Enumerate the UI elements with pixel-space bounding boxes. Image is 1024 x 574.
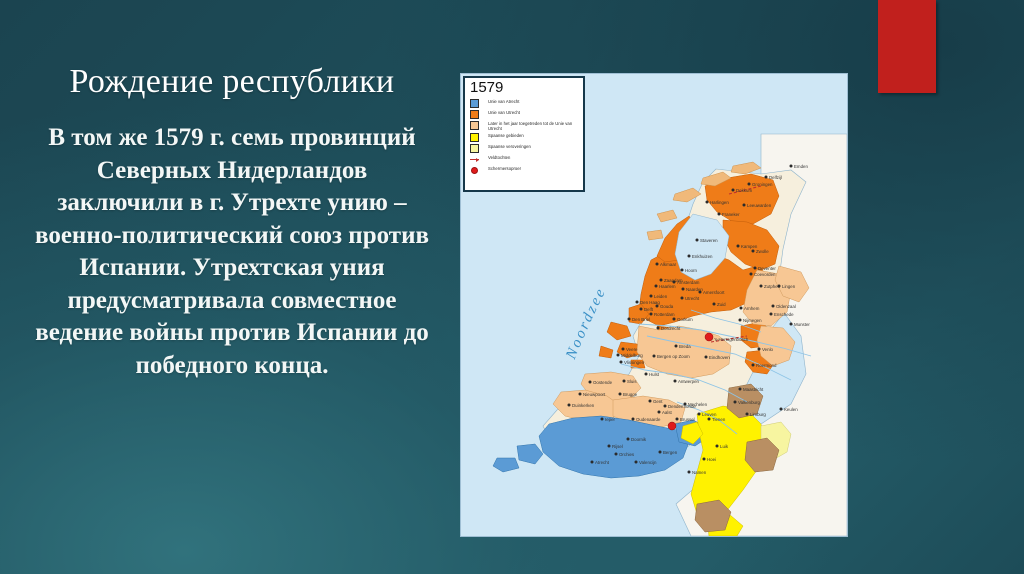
- city-label: Gorkum: [677, 317, 693, 322]
- city-marker-dot: [770, 313, 773, 316]
- city-label: Luik: [720, 444, 729, 449]
- city-marker-dot: [632, 418, 635, 421]
- legend-item: Unie van Utrecht: [469, 109, 580, 119]
- city-label: Nijmegen: [743, 318, 762, 323]
- city-label: Enschede: [774, 312, 794, 317]
- map-legend: 1579 Unie van AtrechtUnie van UtrechtLat…: [463, 76, 585, 192]
- city-label: 's-Hertogenbosch: [714, 337, 749, 342]
- legend-item: Veldtochten: [469, 154, 580, 164]
- city-label: Alkmaar: [660, 262, 677, 267]
- city-label: Oldenzaal: [776, 304, 796, 309]
- city-label: Harlingen: [710, 200, 729, 205]
- city-marker-dot: [698, 413, 701, 416]
- city-label: Duinkerken: [572, 403, 595, 408]
- city-marker-dot: [732, 189, 735, 192]
- city-marker-dot: [674, 380, 677, 383]
- city-marker-dot: [760, 285, 763, 288]
- city-marker-dot: [705, 356, 708, 359]
- city-label: Dordrecht: [661, 326, 681, 331]
- city-label: Dokkum: [736, 188, 752, 193]
- legend-item-list: Unie van AtrechtUnie van UtrechtLater in…: [469, 98, 580, 175]
- city-marker-dot: [655, 285, 658, 288]
- legend-item-label: Later in het jaar toegetreden tot de Uni…: [488, 120, 580, 131]
- city-marker-dot: [778, 285, 781, 288]
- city-label: Venlo: [762, 347, 774, 352]
- city-marker-dot: [780, 408, 783, 411]
- legend-swatch: [470, 133, 479, 142]
- city-marker-dot: [673, 318, 676, 321]
- city-marker-dot: [706, 201, 709, 204]
- city-label: Kampen: [741, 244, 758, 249]
- city-label: Haarlem: [659, 284, 676, 289]
- city-label: Doornik: [631, 437, 647, 442]
- city-marker-dot: [790, 165, 793, 168]
- city-label: Groningen: [752, 182, 773, 187]
- slide-body-text: В том же 1579 г. семь провинций Северных…: [8, 122, 456, 382]
- city-label: Rijsel: [612, 444, 623, 449]
- city-marker-dot: [684, 403, 687, 406]
- legend-item-label: Unie van Atrecht: [488, 98, 520, 104]
- city-marker-dot: [743, 204, 746, 207]
- city-marker-dot: [656, 305, 659, 308]
- city-marker-dot: [790, 323, 793, 326]
- city-marker-dot: [589, 381, 592, 384]
- city-marker-dot: [664, 405, 667, 408]
- city-label: Leiden: [654, 294, 668, 299]
- city-marker-dot: [708, 418, 711, 421]
- legend-swatch: [470, 121, 479, 130]
- city-label: Bergen: [663, 450, 678, 455]
- city-label: Ieper: [605, 417, 616, 422]
- city-label: Bergen op Zoom: [657, 354, 690, 359]
- city-marker-dot: [623, 380, 626, 383]
- city-marker-dot: [622, 348, 625, 351]
- legend-item: Unie van Atrecht: [469, 98, 580, 108]
- city-marker-dot: [658, 411, 661, 414]
- city-label: Arnhem: [744, 306, 760, 311]
- city-marker-dot: [681, 269, 684, 272]
- city-label: Emden: [794, 164, 808, 169]
- city-marker-dot: [636, 301, 639, 304]
- city-label: Keulen: [784, 407, 798, 412]
- text-column: Рождение республики В том же 1579 г. сем…: [8, 62, 456, 382]
- legend-item-label: Spaanse veroveringen: [488, 143, 531, 149]
- city-label: Hoei: [707, 457, 716, 462]
- legend-item-label: Veldtochten: [488, 154, 510, 160]
- city-marker-dot: [750, 273, 753, 276]
- city-marker-dot: [649, 400, 652, 403]
- city-marker-dot: [650, 295, 653, 298]
- city-marker-dot: [699, 291, 702, 294]
- city-marker-dot: [682, 288, 685, 291]
- city-label: Valencijn: [639, 460, 657, 465]
- legend-swatch: [470, 99, 479, 108]
- city-label: Nieuwpoort: [583, 392, 606, 397]
- city-label: Maastricht: [743, 387, 764, 392]
- city-label: Zwolle: [756, 249, 769, 254]
- legend-item: Spaanse veroveringen: [469, 143, 580, 153]
- city-label: Zuid: [717, 302, 726, 307]
- city-marker-dot: [713, 303, 716, 306]
- legend-item: Schermersoproer: [469, 165, 580, 175]
- city-marker-dot: [758, 348, 761, 351]
- city-label: Namen: [692, 470, 707, 475]
- legend-swatch: [470, 110, 479, 119]
- city-marker-dot: [734, 401, 737, 404]
- historical-map: HarlingenFranekerLeeuwardenStaverenEnkhu…: [460, 73, 848, 537]
- city-marker-dot: [739, 388, 742, 391]
- city-label: Oostende: [593, 380, 613, 385]
- city-label: Aalst: [662, 410, 673, 415]
- city-marker-dot: [739, 319, 742, 322]
- city-label: Munster: [794, 322, 810, 327]
- city-label: Brussel: [680, 417, 695, 422]
- city-marker-dot: [660, 279, 663, 282]
- legend-item: Spaanse gebieden: [469, 132, 580, 142]
- legend-item-label: Schermersoproer: [488, 165, 521, 171]
- city-marker-dot: [703, 458, 706, 461]
- city-marker-dot: [772, 305, 775, 308]
- city-marker-dot: [681, 297, 684, 300]
- city-marker-dot: [653, 355, 656, 358]
- city-label: Antwerpen: [678, 379, 700, 384]
- city-label: Orchies: [619, 452, 635, 457]
- city-label: Lingen: [782, 284, 796, 289]
- city-marker-dot: [650, 313, 653, 316]
- city-marker-dot: [628, 318, 631, 321]
- city-label: Valkenburg: [738, 400, 760, 405]
- city-label: Roermond: [756, 363, 777, 368]
- city-label: Den Haag: [640, 300, 660, 305]
- city-label: Amersfoort: [703, 290, 725, 295]
- city-label: Utrecht: [685, 296, 700, 301]
- city-marker-dot: [716, 445, 719, 448]
- city-marker-dot: [737, 245, 740, 248]
- city-label: Mechelen: [688, 402, 708, 407]
- city-label: Breda: [679, 344, 691, 349]
- city-label: Enkhuizen: [692, 254, 713, 259]
- city-marker-dot: [645, 373, 648, 376]
- city-marker-dot: [718, 213, 721, 216]
- city-marker-dot: [591, 461, 594, 464]
- city-label: Hoorn: [685, 268, 698, 273]
- city-label: Atrecht: [595, 460, 610, 465]
- city-marker-dot: [657, 327, 660, 330]
- city-label: Staveren: [700, 238, 718, 243]
- uprising-marker: [668, 422, 676, 430]
- city-marker-dot: [676, 418, 679, 421]
- city-label: Veere: [626, 347, 638, 352]
- city-label: Vlissingen: [624, 360, 645, 365]
- city-marker-dot: [746, 413, 749, 416]
- campaign-arrow-icon: [470, 155, 479, 164]
- city-marker-dot: [635, 461, 638, 464]
- page-title: Рождение республики: [8, 62, 456, 102]
- city-marker-dot: [640, 308, 643, 311]
- city-marker-dot: [617, 354, 620, 357]
- city-label: Gent: [653, 399, 663, 404]
- city-label: Leeuwarden: [747, 203, 772, 208]
- city-label: Tienen: [712, 417, 726, 422]
- city-label: Middelburg: [621, 353, 643, 358]
- city-label: Eindhoven: [709, 355, 730, 360]
- uprising-marker: [705, 333, 713, 341]
- city-label: Franeker: [722, 212, 740, 217]
- city-marker-dot: [688, 471, 691, 474]
- city-label: Gouda: [660, 304, 674, 309]
- legend-item-label: Spaanse gebieden: [488, 132, 524, 138]
- slide-canvas: Рождение республики В том же 1579 г. сем…: [0, 0, 1024, 574]
- city-marker-dot: [765, 176, 768, 179]
- legend-year: 1579: [470, 80, 580, 96]
- city-label: Delft: [644, 307, 654, 312]
- legend-item: Later in het jaar toegetreden tot de Uni…: [469, 120, 580, 131]
- city-marker-dot: [659, 451, 662, 454]
- city-label: Oudenaarde: [636, 417, 661, 422]
- city-marker-dot: [627, 438, 630, 441]
- city-marker-dot: [615, 453, 618, 456]
- city-marker-dot: [568, 404, 571, 407]
- city-marker-dot: [696, 239, 699, 242]
- city-marker-dot: [620, 361, 623, 364]
- city-marker-dot: [740, 307, 743, 310]
- city-label: Deventer: [758, 266, 776, 271]
- city-label: Sluis: [627, 379, 637, 384]
- accent-bar: [878, 0, 936, 93]
- city-label: Brugge: [623, 392, 638, 397]
- city-marker-dot: [752, 250, 755, 253]
- legend-item-label: Unie van Utrecht: [488, 109, 520, 115]
- city-marker-dot: [748, 183, 751, 186]
- city-label: Rotterdam: [654, 312, 675, 317]
- city-label: Amsterdam: [677, 280, 700, 285]
- city-label: Limburg: [750, 412, 766, 417]
- city-marker-dot: [752, 364, 755, 367]
- city-label: Delfzijl: [769, 175, 782, 180]
- city-label: Hulst: [649, 372, 660, 377]
- uprising-dot-icon: [470, 166, 479, 175]
- city-marker-dot: [675, 345, 678, 348]
- city-label: Den Briel: [632, 317, 650, 322]
- city-marker-dot: [601, 418, 604, 421]
- city-marker-dot: [579, 393, 582, 396]
- city-marker-dot: [656, 263, 659, 266]
- city-marker-dot: [688, 255, 691, 258]
- city-marker-dot: [754, 267, 757, 270]
- legend-swatch: [470, 144, 479, 153]
- city-label: Coevorden: [754, 272, 776, 277]
- city-marker-dot: [619, 393, 622, 396]
- city-marker-dot: [608, 445, 611, 448]
